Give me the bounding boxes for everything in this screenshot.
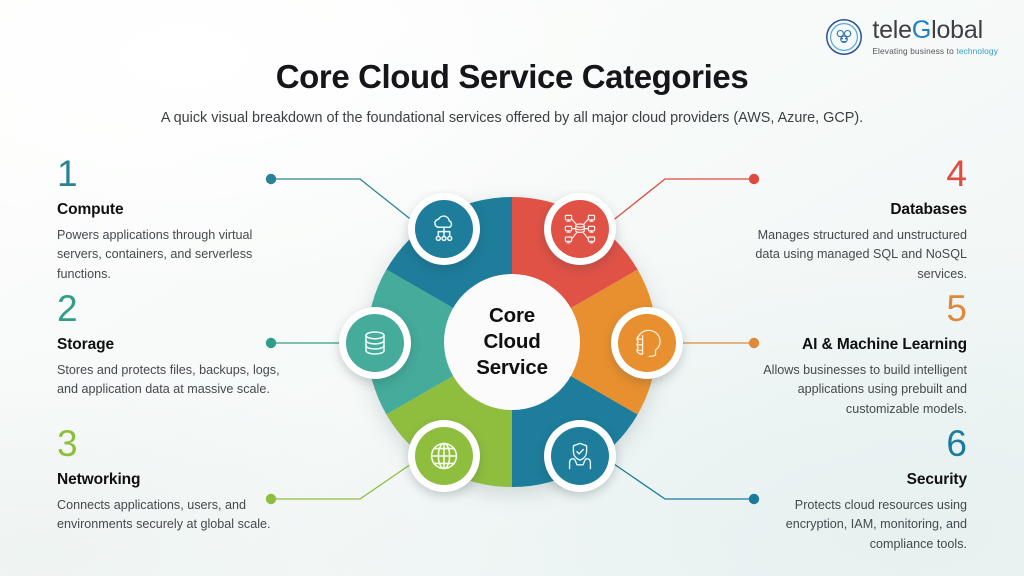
item-title: Networking [57,471,283,489]
item-title: Databases [741,201,967,219]
item-title: Compute [57,201,283,219]
item-title: AI & Machine Learning [741,336,967,354]
item-security: 6 Security Protects cloud resources usin… [741,425,967,554]
item-description: Powers applications through virtual serv… [57,226,283,284]
ai-head-icon [630,326,664,360]
node-security[interactable] [544,420,616,492]
item-databases: 4 Databases Manages structured and unstr… [741,155,967,284]
database-network-icon [562,211,598,247]
node-databases[interactable] [544,193,616,265]
item-storage: 2 Storage Stores and protects files, bac… [57,290,283,400]
item-number: 6 [741,425,967,462]
infographic-canvas: teleGlobal Elevating business to technol… [0,0,1024,576]
node-storage[interactable] [339,307,411,379]
node-ai-machine-learning[interactable] [611,307,683,379]
hub-line-2: Cloud [483,329,540,355]
node-networking[interactable] [408,420,480,492]
database-stack-icon [358,326,392,360]
hub-line-3: Service [476,355,548,381]
item-number: 3 [57,425,283,462]
item-ai-machine-learning: 5 AI & Machine Learning Allows businesse… [741,290,967,419]
item-description: Stores and protects files, backups, logs… [57,361,283,400]
item-number: 5 [741,290,967,327]
item-number: 2 [57,290,283,327]
hub-line-1: Core [489,303,535,329]
item-description: Connects applications, users, and enviro… [57,496,283,535]
cloud-network-icon [427,212,461,246]
item-description: Protects cloud resources using encryptio… [741,496,967,554]
item-number: 1 [57,155,283,192]
shield-hands-icon [563,439,597,473]
item-number: 4 [741,155,967,192]
item-compute: 1 Compute Powers applications through vi… [57,155,283,284]
globe-icon [427,439,461,473]
item-title: Security [741,471,967,489]
item-title: Storage [57,336,283,354]
node-compute[interactable] [408,193,480,265]
hub-label: Core Cloud Service [444,274,580,410]
item-description: Manages structured and unstructured data… [741,226,967,284]
item-networking: 3 Networking Connects applications, user… [57,425,283,535]
item-description: Allows businesses to build intelligent a… [741,361,967,419]
